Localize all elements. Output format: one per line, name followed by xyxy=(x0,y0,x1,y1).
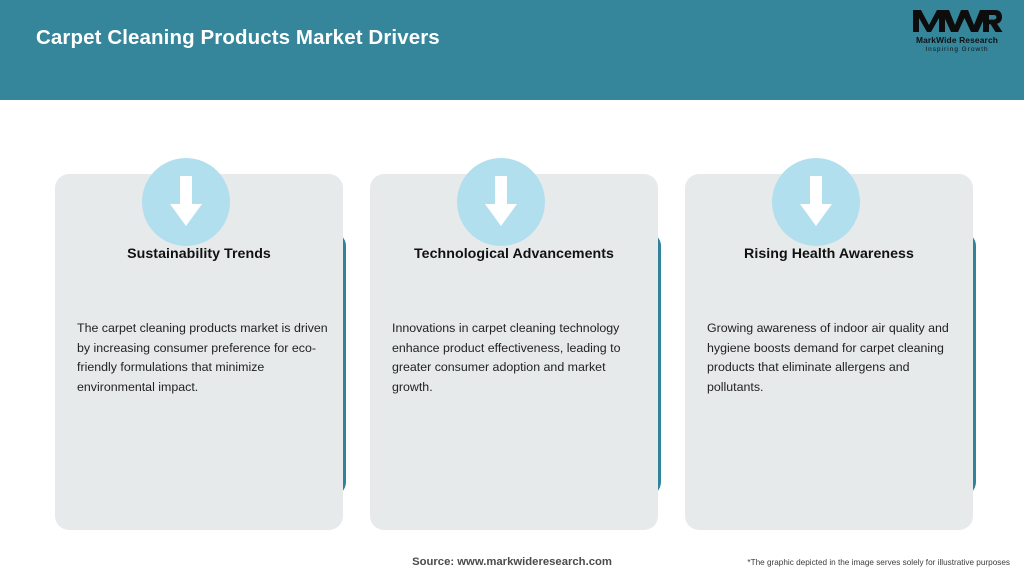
card-title: Rising Health Awareness xyxy=(685,246,973,262)
card-title: Technological Advancements xyxy=(370,246,658,262)
drivers-card-group: Sustainability Trends The carpet cleanin… xyxy=(0,100,1024,540)
logo-tagline: Inspiring Growth xyxy=(904,46,1010,53)
driver-card[interactable]: Sustainability Trends The carpet cleanin… xyxy=(40,158,356,536)
disclaimer-label: *The graphic depicted in the image serve… xyxy=(747,558,1010,567)
page-title: Carpet Cleaning Products Market Drivers xyxy=(36,26,440,50)
driver-card[interactable]: Rising Health Awareness Growing awarenes… xyxy=(670,158,986,536)
arrow-down-icon xyxy=(772,158,860,246)
logo-company-name: MarkWide Research xyxy=(904,35,1010,45)
arrow-down-icon xyxy=(142,158,230,246)
card-description: Growing awareness of indoor air quality … xyxy=(707,319,962,397)
arrow-down-icon xyxy=(457,158,545,246)
card-description: Innovations in carpet cleaning technolog… xyxy=(392,319,647,397)
card-title: Sustainability Trends xyxy=(55,246,343,262)
header-bar: Carpet Cleaning Products Market Drivers … xyxy=(0,0,1024,100)
card-description: The carpet cleaning products market is d… xyxy=(77,319,332,397)
brand-logo: MarkWide Research Inspiring Growth xyxy=(904,8,1010,70)
driver-card[interactable]: Technological Advancements Innovations i… xyxy=(355,158,671,536)
mwr-logo-icon xyxy=(911,8,1003,34)
